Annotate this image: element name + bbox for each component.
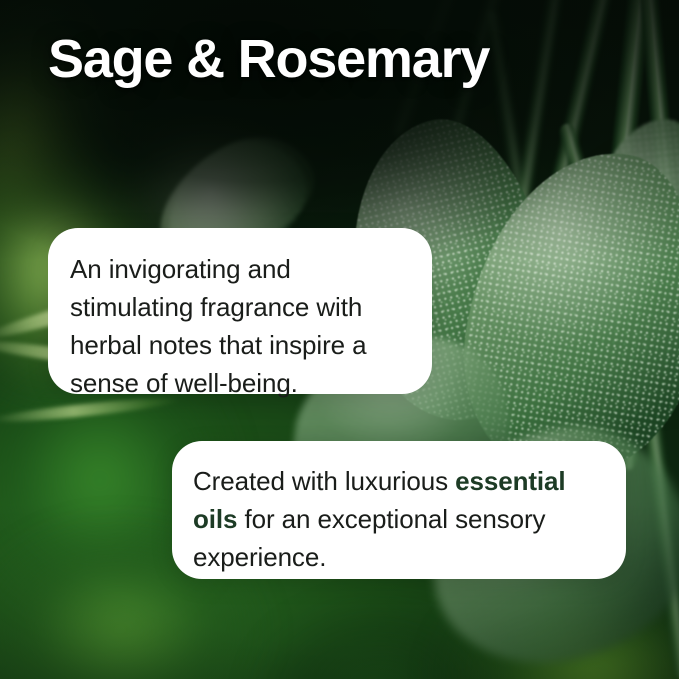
content-layer: Sage & Rosemary An invigorating and stim…: [0, 0, 679, 679]
ingredient-card: Created with luxurious essential oils fo…: [172, 441, 626, 579]
product-feature-image: Sage & Rosemary An invigorating and stim…: [0, 0, 679, 679]
ingredient-card-text: Created with luxurious essential oils fo…: [172, 441, 626, 576]
page-title: Sage & Rosemary: [48, 28, 489, 90]
benefit-card: An invigorating and stimulating fragranc…: [48, 228, 432, 394]
benefit-card-text: An invigorating and stimulating fragranc…: [48, 228, 432, 402]
benefit-card-text-body: An invigorating and stimulating fragranc…: [70, 254, 367, 398]
ingredient-card-text-tail: for an exceptional sensory experience.: [193, 504, 545, 572]
ingredient-card-text-lead: Created with luxurious: [193, 466, 455, 496]
